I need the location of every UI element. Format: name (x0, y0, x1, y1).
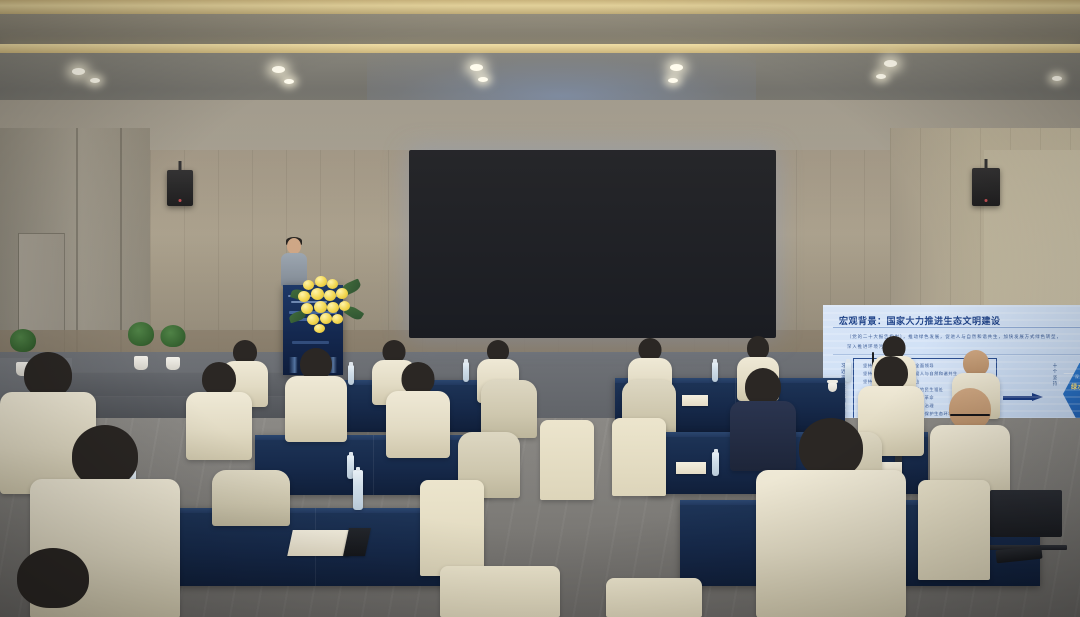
water-bottle[interactable] (353, 470, 363, 510)
attendee-head (72, 425, 138, 487)
slide-title-rule (833, 327, 1080, 328)
attendee (386, 362, 450, 456)
slide-arrow-caption: 十个坚持 (1051, 363, 1059, 387)
water-bottle[interactable] (463, 362, 469, 382)
ceiling-panel-upper (0, 14, 1080, 44)
attendee (186, 362, 252, 458)
hex-small-text: 深入打好污染防治攻坚战 (1075, 375, 1080, 380)
flower-petal (315, 276, 327, 287)
chair[interactable] (540, 420, 594, 500)
chair[interactable] (440, 566, 560, 617)
flower-petal (301, 303, 313, 314)
ceiling-downlight (470, 64, 483, 71)
chair[interactable] (420, 480, 484, 576)
flower-petal (298, 291, 310, 302)
ceiling-top-cove (0, 0, 1080, 14)
hex-shape (1063, 363, 1080, 425)
cup-lid (827, 380, 838, 383)
water-bottle[interactable] (712, 452, 719, 476)
flower-petal (324, 290, 336, 301)
ceiling-downlight (90, 78, 100, 83)
attendee-head (949, 388, 991, 430)
chair[interactable] (606, 578, 702, 617)
potted-plant (128, 330, 154, 370)
attendee-head (17, 548, 89, 608)
bottle-cap (846, 359, 850, 363)
flower-petal (314, 301, 327, 313)
ceiling-downlight (478, 77, 488, 82)
ceiling-downlight (272, 66, 285, 73)
plant-pot (166, 357, 180, 370)
speaker-mount (985, 159, 988, 169)
plant-foliage (10, 329, 36, 352)
bottle-cap (349, 452, 353, 456)
chair[interactable] (212, 470, 290, 526)
chair[interactable] (612, 418, 666, 496)
conference-hall-photo: 宏观背景：国家大力推进生态文明建设 农业行 AGRICULTURAL BANK … (0, 0, 1080, 617)
bottle-cap (714, 449, 718, 453)
hex-main-text: 绿水青山就是 金山银山 (1071, 385, 1080, 393)
flower-arrangement (293, 272, 359, 334)
plant-foliage (161, 325, 186, 347)
bottle-cap (464, 359, 468, 363)
ceiling-downlight (668, 78, 678, 83)
plant-pot (134, 356, 148, 370)
ceiling-downlight (1052, 76, 1062, 81)
ceiling-downlight (72, 68, 85, 75)
flower-petal (320, 313, 332, 324)
glasses-icon (950, 414, 990, 416)
flower-petal (327, 302, 339, 313)
speaker-mount (179, 161, 182, 171)
flower-petal (311, 288, 324, 300)
bottle-cap (356, 467, 360, 471)
attendee (756, 418, 906, 617)
attendee-head (202, 362, 236, 396)
ceiling-downlight (670, 64, 683, 71)
ceiling-downlight (284, 79, 294, 84)
water-bottle[interactable] (348, 365, 354, 385)
chair[interactable] (481, 380, 537, 438)
bottle-cap (713, 359, 717, 363)
attendee-head (874, 356, 908, 390)
flower-petal (336, 288, 348, 299)
flower-petal (339, 301, 350, 311)
arrow-head (1032, 393, 1043, 401)
bottle-cap (349, 362, 353, 366)
attendee (0, 548, 116, 617)
wall-speaker-right (972, 168, 1000, 206)
flower-petal (314, 324, 325, 333)
attendee-body (386, 391, 450, 458)
notepad[interactable] (676, 462, 706, 474)
slide-title: 宏观背景：国家大力推进生态文明建设 (839, 314, 1001, 327)
table-fold (373, 435, 374, 495)
water-bottle[interactable] (845, 362, 851, 382)
plant-foliage (128, 322, 154, 346)
flower-petal (332, 314, 343, 324)
chair[interactable] (918, 480, 990, 580)
potted-plant (160, 332, 186, 370)
attendee-body (756, 470, 906, 617)
notepad[interactable] (682, 395, 708, 406)
podium-banner-band (292, 341, 329, 344)
tea-cup[interactable] (828, 382, 837, 392)
attendee (285, 348, 347, 440)
laptop-lid (990, 490, 1062, 537)
wall-speaker-left (167, 170, 193, 206)
presenter-head (287, 238, 301, 254)
speaker-led-icon (985, 199, 988, 202)
laptop[interactable] (990, 490, 1062, 550)
ceiling-downlight (876, 74, 886, 79)
attendee-body (285, 376, 347, 442)
water-bottle[interactable] (712, 362, 718, 382)
projection-screen-bezel: 宏观背景：国家大力推进生态文明建设 农业行 AGRICULTURAL BANK … (409, 150, 776, 338)
speaker-led-icon (179, 199, 182, 202)
attendee-body (186, 392, 252, 460)
ceiling-cove-light-1 (0, 44, 1080, 53)
flower-petal (327, 279, 338, 289)
attendee-head (799, 418, 863, 478)
ceiling-downlight (884, 60, 897, 67)
